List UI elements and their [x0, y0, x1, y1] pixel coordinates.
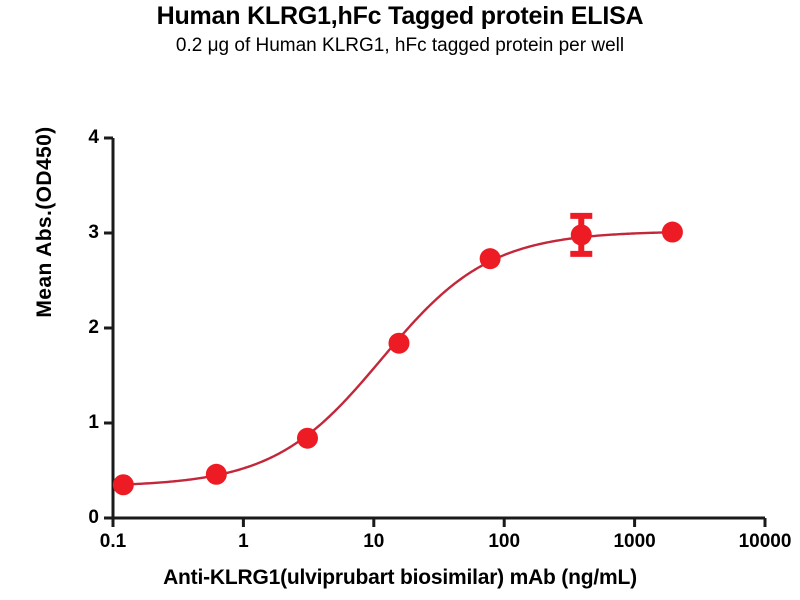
axes-group [104, 138, 765, 527]
elisa-figure: Human KLRG1,hFc Tagged protein ELISA 0.2… [0, 0, 800, 600]
fit-curve-group [123, 232, 672, 484]
data-point [206, 464, 227, 485]
data-point [297, 428, 318, 449]
data-points-group [113, 222, 683, 496]
fit-curve [123, 232, 672, 484]
data-point [113, 474, 134, 495]
data-point [480, 248, 501, 269]
data-point [571, 224, 592, 245]
plot-area [0, 0, 800, 600]
data-point [388, 333, 409, 354]
data-point [662, 222, 683, 243]
